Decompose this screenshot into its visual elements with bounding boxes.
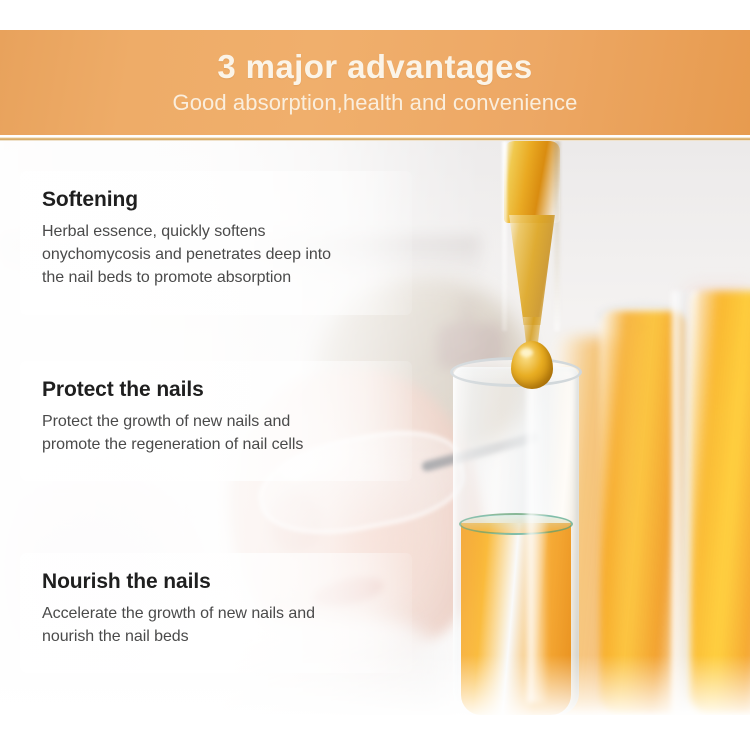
advantage-description: Accelerate the growth of new nails and n… <box>42 603 390 648</box>
advantage-title: Protect the nails <box>42 377 390 402</box>
advantage-description-line: Protect the growth of new nails and <box>42 411 390 434</box>
advantage-description-line: onychomycosis and penetrates deep into <box>42 244 390 267</box>
advantage-card-softening: Softening Herbal essence, quickly soften… <box>20 171 412 315</box>
bottom-margin <box>0 715 750 750</box>
page-subtitle: Good absorption,health and convenience <box>173 91 578 115</box>
advantage-description-line: Accelerate the growth of new nails and <box>42 603 390 626</box>
product-infographic: Softening Herbal essence, quickly soften… <box>0 0 750 750</box>
advantage-card-protect-the-nails: Protect the nails Protect the growth of … <box>20 361 412 481</box>
header-banner: 3 major advantages Good absorption,healt… <box>0 30 750 135</box>
advantage-description: Protect the growth of new nails and prom… <box>42 411 390 456</box>
advantage-title: Softening <box>42 187 390 212</box>
advantage-card-nourish-the-nails: Nourish the nails Accelerate the growth … <box>20 553 412 673</box>
advantage-title: Nourish the nails <box>42 569 390 594</box>
advantage-description: Herbal essence, quickly softens onychomy… <box>42 221 390 289</box>
advantage-description-line: nourish the nail beds <box>42 626 390 649</box>
advantage-description-line: Herbal essence, quickly softens <box>42 221 390 244</box>
advantages-list: Softening Herbal essence, quickly soften… <box>0 141 750 715</box>
top-margin <box>0 0 750 30</box>
header-divider <box>0 137 750 141</box>
advantage-description-line: promote the regeneration of nail cells <box>42 434 390 457</box>
advantage-description-line: the nail beds to promote absorption <box>42 267 390 290</box>
page-title: 3 major advantages <box>217 50 532 85</box>
header-content: 3 major advantages Good absorption,healt… <box>0 30 750 135</box>
